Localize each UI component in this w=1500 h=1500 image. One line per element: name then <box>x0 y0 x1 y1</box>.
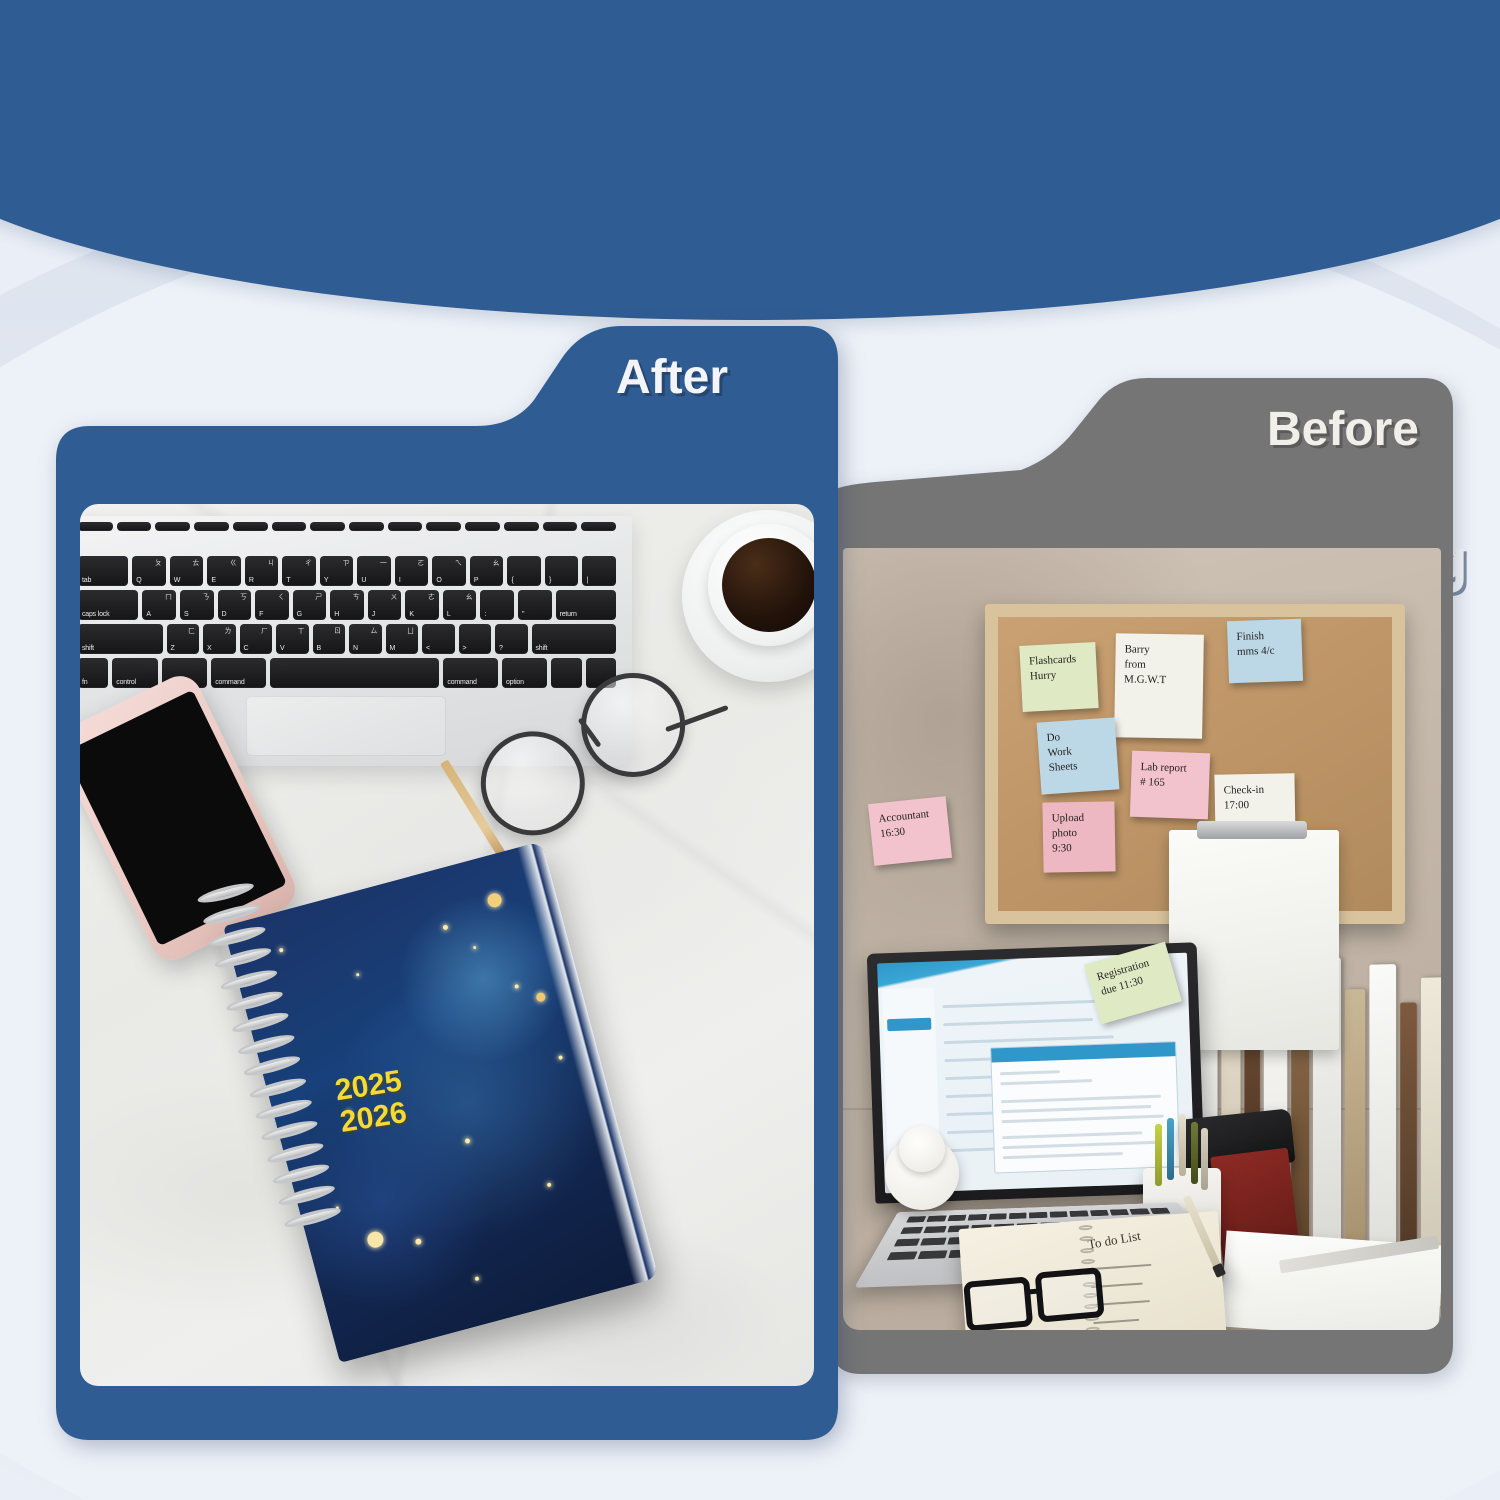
glasses-lens-right <box>1035 1267 1105 1323</box>
key-tab: tab <box>80 556 128 586</box>
after-panel[interactable]: After tab Qㄆ Wㄊ Eㄍ <box>56 324 838 1440</box>
key-bracket-right: } <box>545 556 579 586</box>
key-d: Dㄎ <box>218 590 252 620</box>
key-r: Rㄐ <box>245 556 279 586</box>
sticky-note-line: Check-in <box>1224 782 1287 798</box>
key-u: U一 <box>357 556 391 586</box>
sticky-note-lab-report: Lab report # 165 <box>1130 751 1210 820</box>
key-w: Wㄊ <box>170 556 204 586</box>
app-primary-button <box>887 1018 931 1032</box>
sticky-note-flashcards: Flashcards Hurry <box>1019 642 1098 712</box>
key-control: control <box>112 658 157 688</box>
sticky-note-line: M.G.W.T <box>1124 672 1195 688</box>
key-fn: fn <box>80 658 108 688</box>
key-b: Bㄖ <box>313 624 346 654</box>
key-t: Tㄔ <box>282 556 316 586</box>
key-comma: < <box>422 624 455 654</box>
planner-year-badge: 2025 2026 <box>333 1065 409 1138</box>
key-f: Fㄑ <box>255 590 289 620</box>
sticky-note-line: Hurry <box>1030 666 1090 684</box>
before-panel[interactable]: Before Flashcards Hurry Barry from M.G.W… <box>831 378 1453 1374</box>
key-q: Qㄆ <box>132 556 166 586</box>
coffee-liquid <box>722 538 814 632</box>
key-g: Gㄕ <box>293 590 327 620</box>
sticky-note-line: Barry <box>1124 642 1195 658</box>
key-e: Eㄍ <box>207 556 241 586</box>
after-photo: tab Qㄆ Wㄊ Eㄍ Rㄐ Tㄔ Yㄗ U一 Iㄛ Oㄟ Pㄠ { } | <box>80 504 814 1386</box>
sticky-note-line: Upload <box>1052 811 1107 827</box>
key-z: Zㄈ <box>167 624 200 654</box>
promo-graphic: Transform Your Productivity with Plannin… <box>0 0 1500 1500</box>
key-l: Lㄠ <box>443 590 477 620</box>
key-p: Pㄠ <box>470 556 504 586</box>
key-v: Vㄒ <box>276 624 309 654</box>
sticky-note-line: # 165 <box>1140 775 1201 792</box>
header-banner <box>0 0 1500 320</box>
key-return: return <box>556 590 616 620</box>
key-h: Hㄘ <box>330 590 364 620</box>
key-i: Iㄛ <box>395 556 429 586</box>
key-caps-lock: caps lock <box>80 590 138 620</box>
key-quote: " <box>518 590 552 620</box>
keyboard-row-qwerty: tab Qㄆ Wㄊ Eㄍ Rㄐ Tㄔ Yㄗ U一 Iㄛ Oㄟ Pㄠ { } | <box>80 556 616 586</box>
sticky-note-line: 17:00 <box>1224 797 1287 813</box>
app-dialog <box>990 1041 1180 1173</box>
trackpad <box>246 696 446 756</box>
keyboard-row-bottom-letters: shift Zㄈ Xㄌ Cㄏ Vㄒ Bㄖ Nㄙ Mㄩ < > ? shift <box>80 624 616 654</box>
key-c: Cㄏ <box>240 624 273 654</box>
sticky-note-line: from <box>1124 657 1195 673</box>
key-command-left: command <box>211 658 266 688</box>
key-x: Xㄌ <box>203 624 236 654</box>
before-tab-label: Before <box>1267 402 1419 457</box>
glasses-lens-left <box>963 1276 1033 1330</box>
key-shift-right: shift <box>532 624 617 654</box>
key-semicolon: : <box>480 590 514 620</box>
sticky-note-finish: Finish mms 4/c <box>1227 619 1303 684</box>
key-n: Nㄙ <box>349 624 382 654</box>
key-backslash: | <box>582 556 616 586</box>
key-o: Oㄟ <box>432 556 466 586</box>
sticky-note-line: photo <box>1052 825 1107 841</box>
before-coffee-cup <box>885 1136 959 1210</box>
key-k: Kㄜ <box>405 590 439 620</box>
keyboard-row-home: caps lock Aㄇ Sㄋ Dㄎ Fㄑ Gㄕ Hㄘ Jㄨ Kㄜ Lㄠ : "… <box>80 590 616 620</box>
sticky-note-barry: Barry from M.G.W.T <box>1114 633 1204 739</box>
after-tab-label: After <box>616 350 728 405</box>
key-y: Yㄗ <box>320 556 354 586</box>
key-s: Sㄋ <box>180 590 214 620</box>
sticky-note-line: mms 4/c <box>1237 643 1294 660</box>
sticky-note-accountant: Accountant 16:30 <box>868 796 952 866</box>
key-space <box>270 658 440 688</box>
key-shift-left: shift <box>80 624 163 654</box>
keyboard-row-function <box>80 522 616 552</box>
key-a: Aㄇ <box>142 590 176 620</box>
key-m: Mㄩ <box>386 624 419 654</box>
before-photo: Flashcards Hurry Barry from M.G.W.T Fini… <box>843 548 1441 1330</box>
sticky-note-line: 9:30 <box>1052 840 1107 856</box>
key-j: Jㄨ <box>368 590 402 620</box>
key-bracket-left: { <box>507 556 541 586</box>
todo-list-heading: To do List <box>1087 1228 1142 1253</box>
sticky-note-line: Sheets <box>1048 757 1110 776</box>
sticky-note-worksheets: Do Work Sheets <box>1037 717 1120 794</box>
app-dialog-titlebar <box>991 1042 1175 1062</box>
key-period: > <box>459 624 492 654</box>
sticky-note-upload-photo: Upload photo 9:30 <box>1042 801 1115 872</box>
